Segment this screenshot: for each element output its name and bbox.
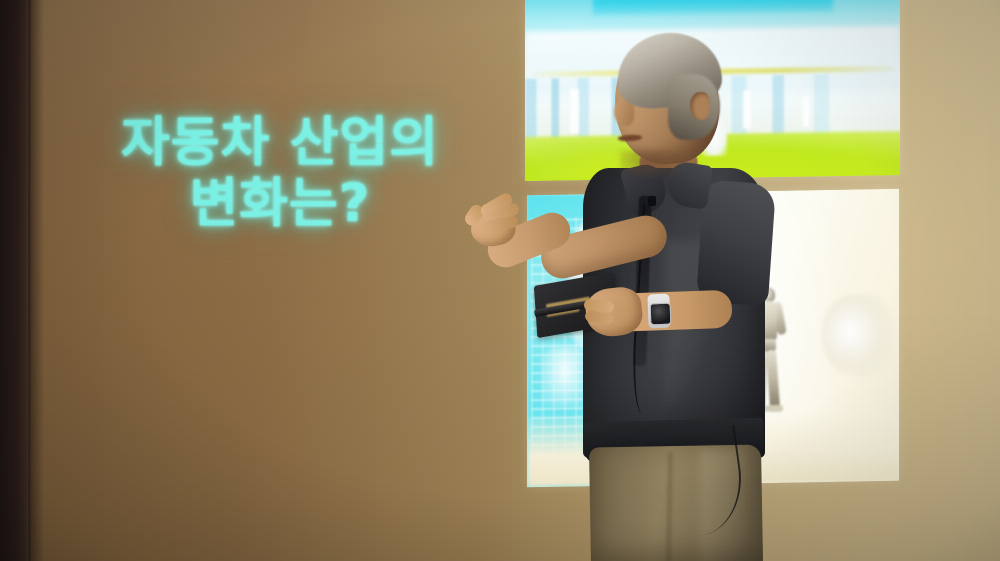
lab-white-object [822,294,892,377]
cityscape-tower [803,96,809,126]
lab-floor [527,411,899,488]
room-left-dark-edge [0,0,31,561]
room-left-edge-falloff [28,0,44,561]
slide-image-cityscape [525,0,900,181]
lab-yellow-object [706,378,736,405]
lab-chair [542,346,588,407]
cityscape-tower [638,95,645,129]
robot-leg-right [766,350,780,409]
cityscape-monument [701,118,727,156]
humanoid-robot [750,287,788,438]
cityscape-lawn-patch [540,146,690,179]
cityscape-tower [743,90,751,128]
presentation-photo: 자동차 산업의 변화는? [0,0,1000,561]
slide-title-line-2: 변화는? [120,173,440,234]
slide-title: 자동차 산업의 변화는? [120,112,440,235]
robot-foot-left [752,405,768,412]
robot-foot-right [767,405,783,412]
slide-image-robot-lab [527,189,899,487]
robot-head [758,287,775,302]
slide-title-line-1: 자동차 산업의 [121,112,439,173]
cityscape-tower [570,89,579,133]
robot-torso [756,301,777,341]
